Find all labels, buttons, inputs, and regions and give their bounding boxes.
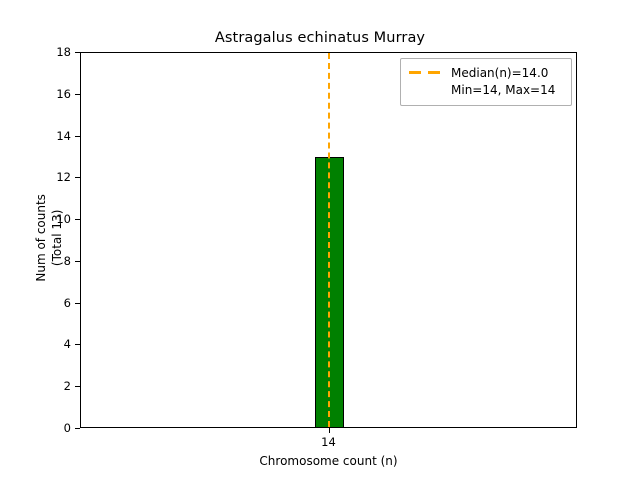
y-axis-tick-label: 12 [0,170,71,184]
legend-item-labels: Median(n)=14.0 Min=14, Max=14 [451,65,555,99]
y-axis-tick [75,136,80,137]
y-axis-tick [75,52,80,53]
legend-item-median: Median(n)=14.0 Min=14, Max=14 [408,65,564,99]
y-axis-tick-label: 0 [0,421,71,435]
y-axis-label-line1: Num of counts [34,108,50,368]
plot-inner [81,53,576,427]
chart-figure: Astragalus echinatus Murray Chromosome c… [0,0,640,480]
plot-area [80,52,577,428]
y-axis-tick [75,94,80,95]
x-axis-label: Chromosome count (n) [80,454,577,468]
y-axis-tick [75,428,80,429]
y-axis-tick-label: 14 [0,129,71,143]
y-axis-label: Num of counts (Total 13) [34,108,66,368]
legend-label-minmax: Min=14, Max=14 [451,82,555,99]
y-axis-tick [75,261,80,262]
median-line [328,53,330,427]
legend: Median(n)=14.0 Min=14, Max=14 [400,58,572,106]
y-axis-tick [75,177,80,178]
y-axis-tick-label: 18 [0,45,71,59]
y-axis-tick-label: 10 [0,212,71,226]
x-axis-tick [329,428,330,433]
page-title: Astragalus echinatus Murray [0,30,640,46]
y-axis-tick-label: 8 [0,254,71,268]
y-axis-tick [75,303,80,304]
y-axis-tick-label: 4 [0,337,71,351]
y-axis-tick-label: 6 [0,296,71,310]
y-axis-tick [75,344,80,345]
y-axis-tick [75,219,80,220]
y-axis-tick [75,386,80,387]
legend-label-median: Median(n)=14.0 [451,65,555,82]
y-axis-tick-label: 16 [0,87,71,101]
y-axis-tick-label: 2 [0,379,71,393]
y-axis-label-line2: (Total 13) [50,108,66,368]
dashed-line-icon [408,65,444,80]
x-axis-tick-label: 14 [321,435,336,449]
